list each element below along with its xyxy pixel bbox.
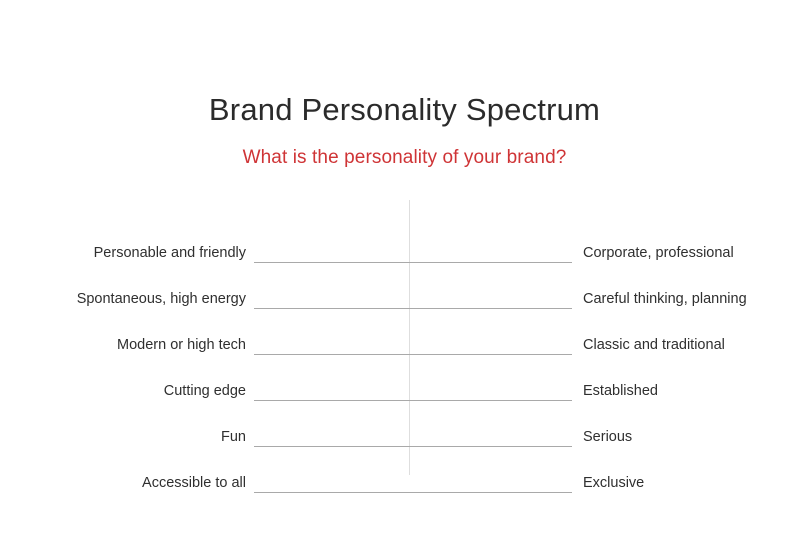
spectrum-row: Spontaneous, high energy Careful thinkin…: [0, 264, 809, 310]
spectrum-left-label: Cutting edge: [0, 384, 246, 403]
spectrum-rating-line[interactable]: [254, 492, 572, 493]
page-subtitle: What is the personality of your brand?: [0, 148, 809, 169]
spectrum-left-label: Fun: [0, 430, 246, 449]
spectrum-rating-line[interactable]: [254, 446, 572, 447]
spectrum-left-label: Personable and friendly: [0, 246, 246, 265]
spectrum-rating-line[interactable]: [254, 308, 572, 309]
spectrum-rating-line[interactable]: [254, 354, 572, 355]
spectrum-row: Modern or high tech Classic and traditio…: [0, 310, 809, 356]
spectrum-right-label: Careful thinking, planning: [578, 292, 809, 311]
spectrum-row: Cutting edge Established: [0, 356, 809, 402]
spectrum-left-label: Accessible to all: [0, 476, 246, 495]
spectrum-row: Personable and friendly Corporate, profe…: [0, 218, 809, 264]
spectrum-rating-line[interactable]: [254, 400, 572, 401]
brand-personality-slide: Brand Personality Spectrum What is the p…: [0, 0, 809, 539]
spectrum-row: Fun Serious: [0, 402, 809, 448]
spectrum-right-label: Serious: [578, 430, 809, 449]
page-title: Brand Personality Spectrum: [0, 93, 809, 127]
spectrum-left-label: Spontaneous, high energy: [0, 292, 246, 311]
spectrum-right-label: Classic and traditional: [578, 338, 809, 357]
spectrum-right-label: Exclusive: [578, 476, 809, 495]
spectrum-left-label: Modern or high tech: [0, 338, 246, 357]
spectrum-scales: Personable and friendly Corporate, profe…: [0, 200, 809, 485]
spectrum-right-label: Corporate, professional: [578, 246, 809, 265]
spectrum-right-label: Established: [578, 384, 809, 403]
spectrum-rating-line[interactable]: [254, 262, 572, 263]
spectrum-row: Accessible to all Exclusive: [0, 448, 809, 494]
